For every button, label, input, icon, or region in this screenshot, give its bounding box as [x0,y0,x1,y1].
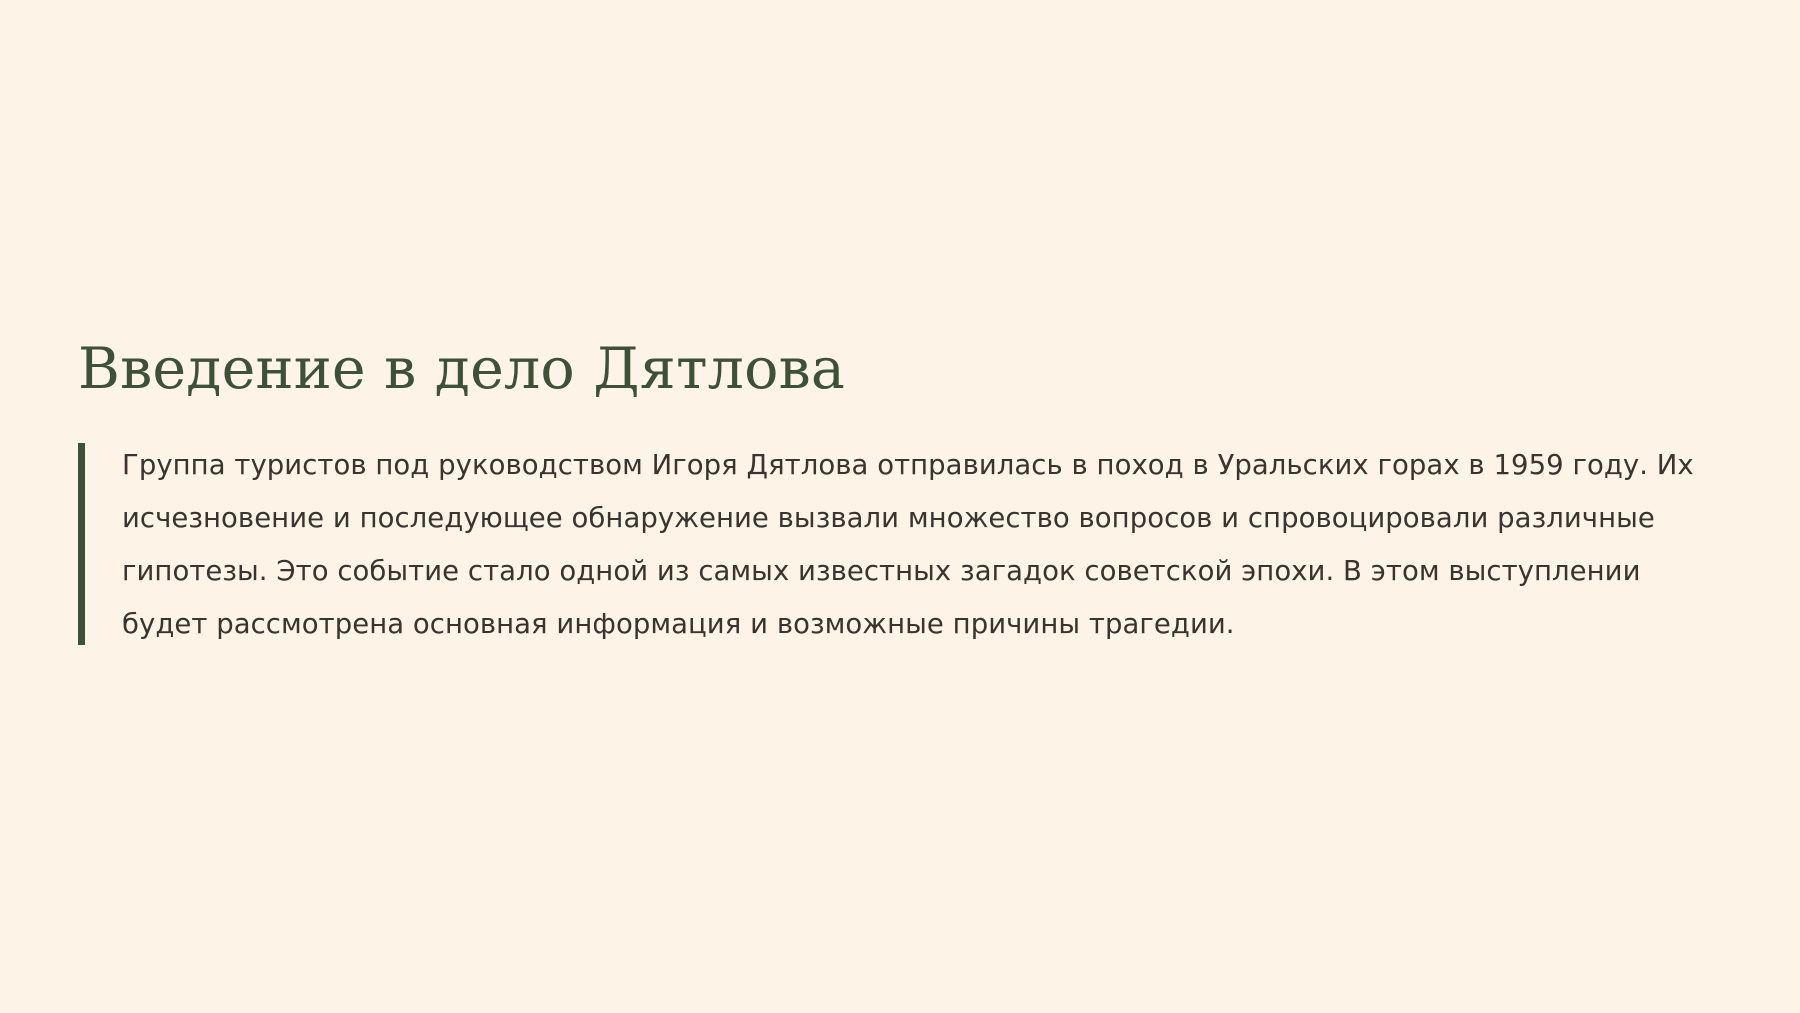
page-title: Введение в дело Дятлова [78,336,1698,403]
body-block: Группа туристов под руководством Игоря Д… [78,439,1698,651]
body-paragraph: Группа туристов под руководством Игоря Д… [122,439,1697,651]
presentation-slide: Введение в дело Дятлова Группа туристов … [0,0,1800,1013]
slide-content: Введение в дело Дятлова Группа туристов … [78,336,1698,652]
accent-bar [78,443,85,645]
